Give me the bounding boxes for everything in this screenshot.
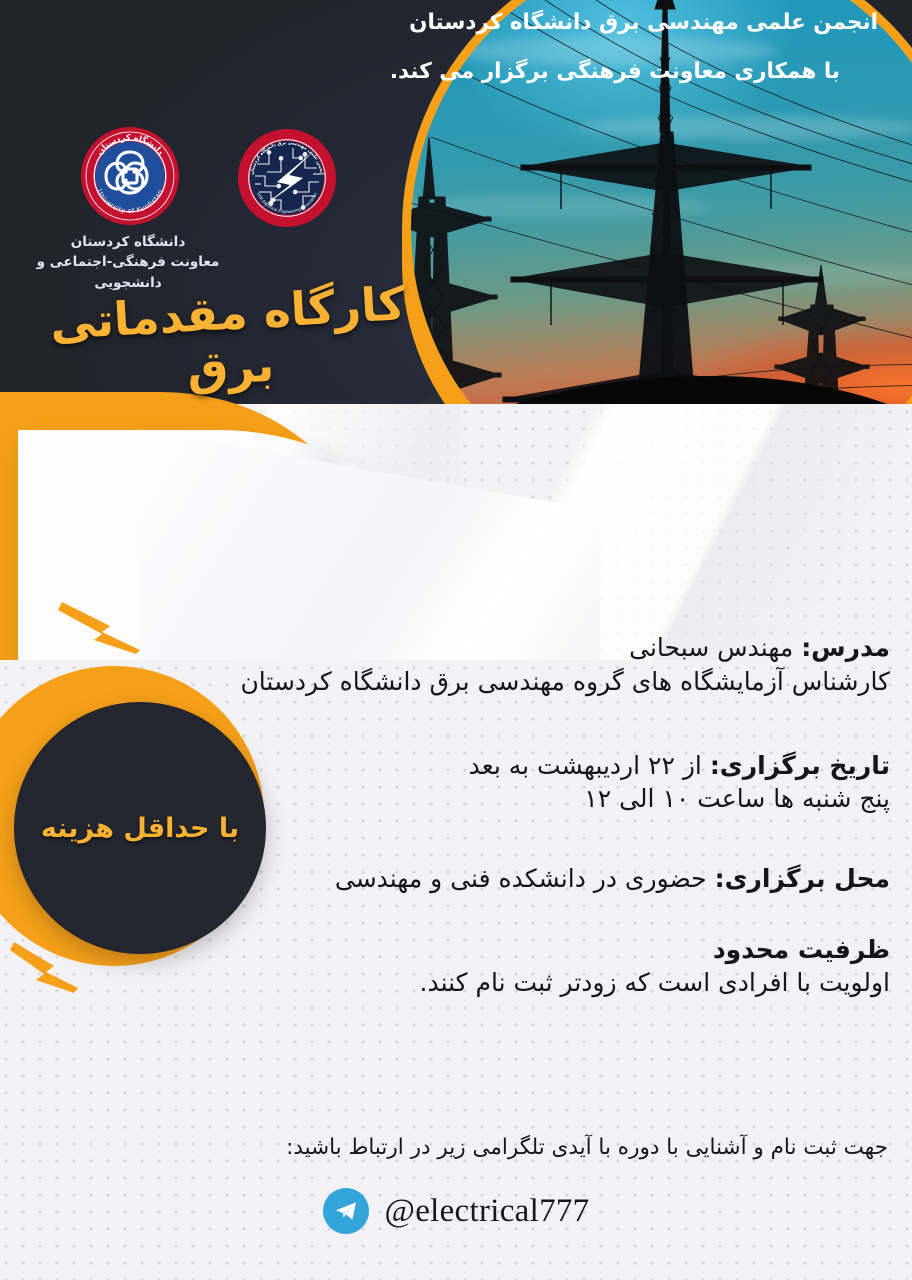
telegram-handle[interactable]: @electrical777 (385, 1193, 590, 1230)
detail-location: محل برگزاری: حضوری در دانشکده فنی و مهند… (230, 863, 890, 896)
detail-instructor-label: مدرس: (801, 633, 890, 662)
cost-badge-label: با حداقل هزینه (41, 813, 239, 844)
detail-date: تاریخ برگزاری: از ۲۲ اردیبهشت به بعد پنج… (230, 750, 890, 816)
header-line-2: با همکاری معاونت فرهنگی برگزار می کند. (358, 61, 840, 84)
logo-row: دانشگاه کردستان University of Kurdistan (60, 126, 360, 236)
organizer-caption: دانشگاه کردستان معاونت فرهنگی-اجتماعی و … (18, 232, 238, 293)
detail-location-label: محل برگزاری: (715, 864, 890, 893)
detail-date-value: از ۲۲ اردیبهشت به بعد (469, 751, 702, 780)
telegram-contact[interactable]: @electrical777 (0, 1188, 912, 1234)
cost-badge: با حداقل هزینه (14, 702, 266, 954)
header-block: انجمن علمی مهندسی برق دانشگاه کردستان با… (358, 12, 878, 83)
detail-date-sub: پنج شنبه ها ساعت ۱۰ الی ۱۲ (230, 782, 890, 815)
detail-instructor: مدرس: مهندس سبحانی کارشناس آزمایشگاه های… (230, 632, 890, 698)
detail-capacity: ظرفیت محدود اولویت با افرادی است که زودت… (230, 934, 890, 1000)
university-of-kurdistan-logo: دانشگاه کردستان University of Kurdistan (80, 126, 180, 226)
detail-instructor-line: مدرس: مهندس سبحانی (230, 632, 890, 665)
organizer-line-1: دانشگاه کردستان (18, 232, 238, 252)
electrical-engineering-association-logo: انجمن علمی مهندسی برق دانشگاه کردستان UO… (235, 128, 339, 228)
detail-instructor-sub: کارشناس آزمایشگاه های گروه مهندسی برق دا… (230, 665, 890, 698)
detail-date-label: تاریخ برگزاری: (710, 751, 890, 780)
detail-location-line: محل برگزاری: حضوری در دانشکده فنی و مهند… (230, 863, 890, 896)
detail-capacity-label: ظرفیت محدود (230, 934, 890, 967)
registration-note: جهت ثبت نام و آشنایی با دوره با آیدی تلگ… (248, 1134, 888, 1162)
page-title: کارگاه مقدماتی برق (21, 275, 436, 406)
detail-instructor-value: مهندس سبحانی (629, 633, 793, 662)
poster-root: با حداقل هزینه انجمن علمی مهندسی برق دان… (0, 0, 912, 1280)
telegram-paper-plane-icon[interactable] (323, 1188, 369, 1234)
detail-date-line: تاریخ برگزاری: از ۲۲ اردیبهشت به بعد (230, 750, 890, 783)
detail-capacity-sub: اولویت با افرادی است که زودتر ثبت نام کن… (230, 966, 890, 999)
lightning-bolt-icon (56, 596, 146, 656)
header-line-1: انجمن علمی مهندسی برق دانشگاه کردستان (358, 12, 878, 35)
detail-location-value: حضوری در دانشکده فنی و مهندسی (335, 864, 707, 893)
details-list: مدرس: مهندس سبحانی کارشناس آزمایشگاه های… (230, 632, 890, 1029)
